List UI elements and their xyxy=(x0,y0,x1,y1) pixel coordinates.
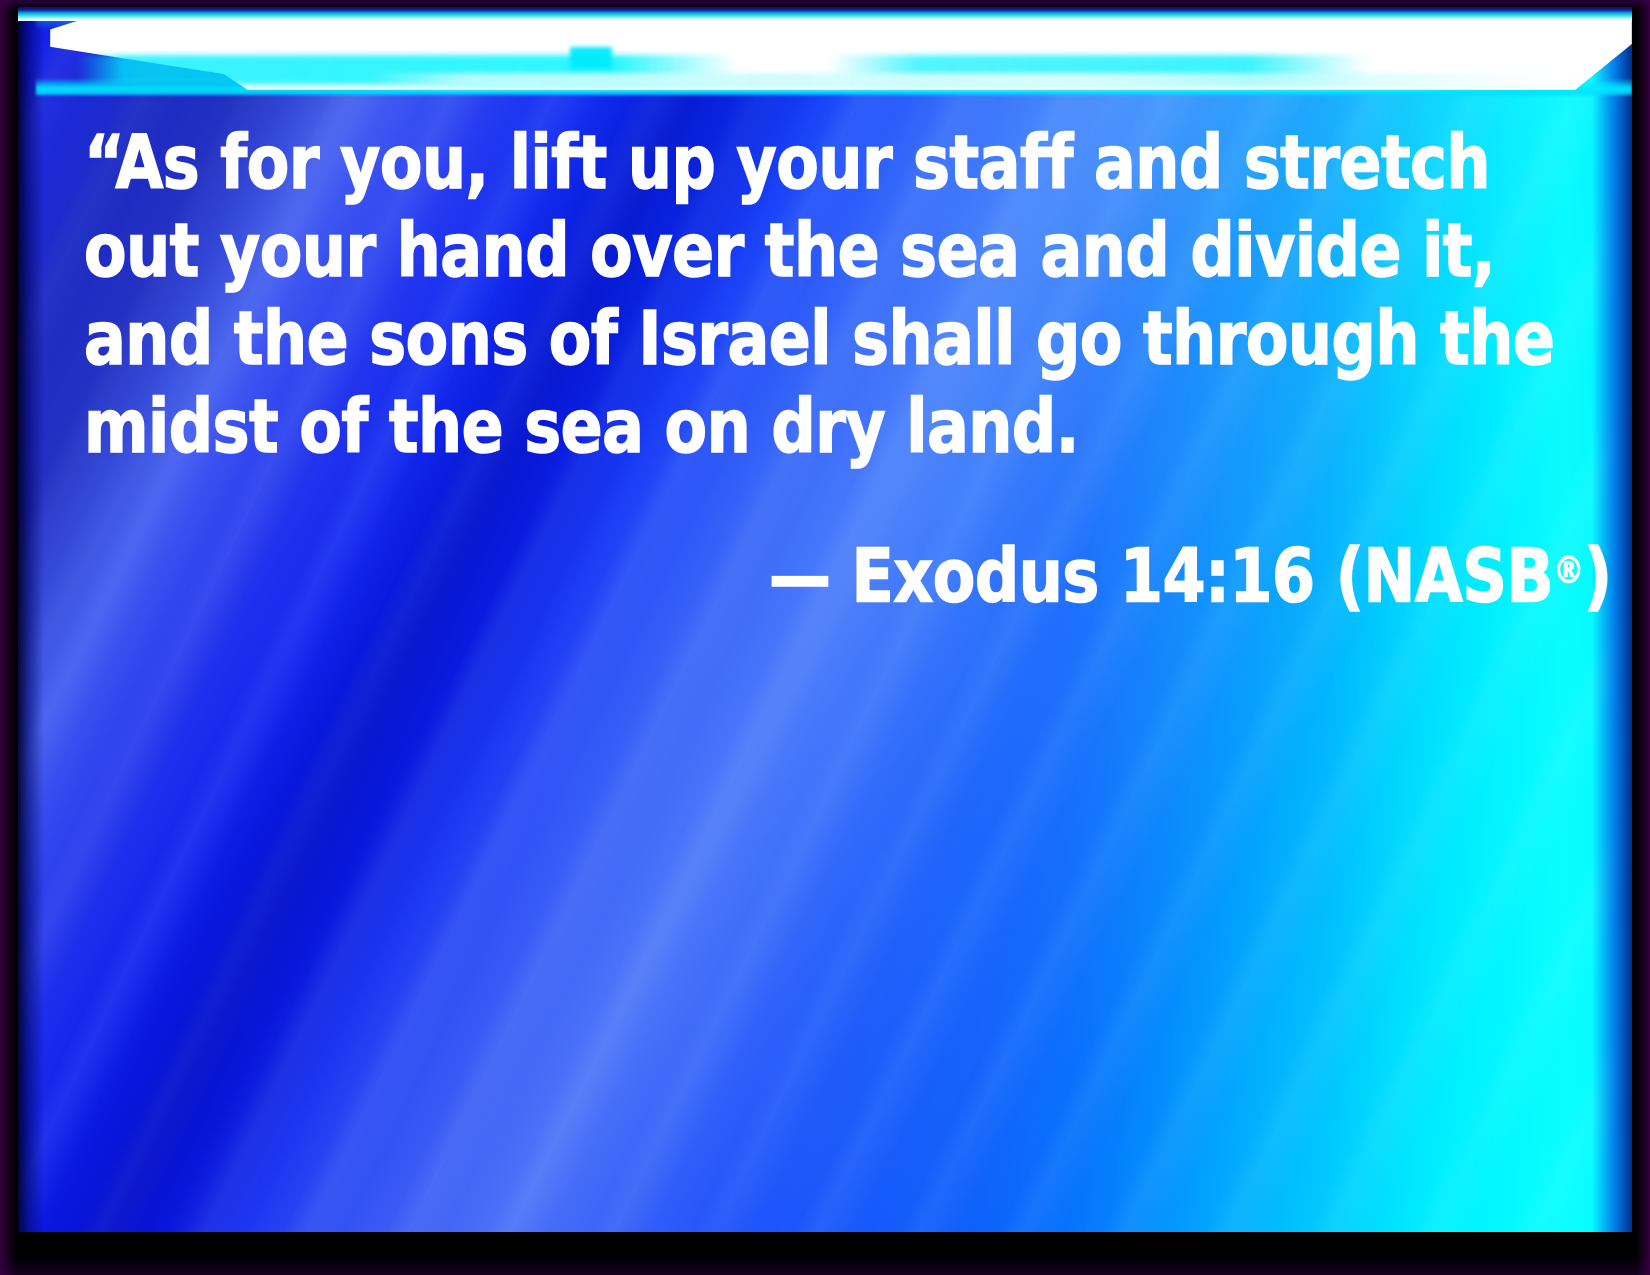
verse-line-1: “As for you, lift up your staff and stre… xyxy=(84,119,1524,207)
verse-attribution: — Exodus 14:16 (NASB®) xyxy=(192,527,1632,621)
attribution-em-dash: — xyxy=(769,534,830,620)
verse-slide: “As for you, lift up your staff and stre… xyxy=(0,0,1650,1275)
attribution-reference: 14:16 xyxy=(1120,534,1315,620)
attribution-open-paren: ( xyxy=(1336,534,1364,620)
verse-line-4: midst of the sea on dry land. xyxy=(84,383,1524,471)
attribution-book: Exodus xyxy=(852,534,1099,620)
verse-line-3: and the sons of Israel shall go through … xyxy=(84,295,1524,383)
attribution-translation: NASB xyxy=(1364,534,1554,620)
slide-canvas: “As for you, lift up your staff and stre… xyxy=(18,7,1632,1232)
verse-text-block: “As for you, lift up your staff and stre… xyxy=(18,7,1632,621)
attribution-close-paren: ) xyxy=(1584,534,1612,620)
registered-trademark-icon: ® xyxy=(1553,549,1584,592)
verse-line-2: out your hand over the sea and divide it… xyxy=(84,207,1524,295)
